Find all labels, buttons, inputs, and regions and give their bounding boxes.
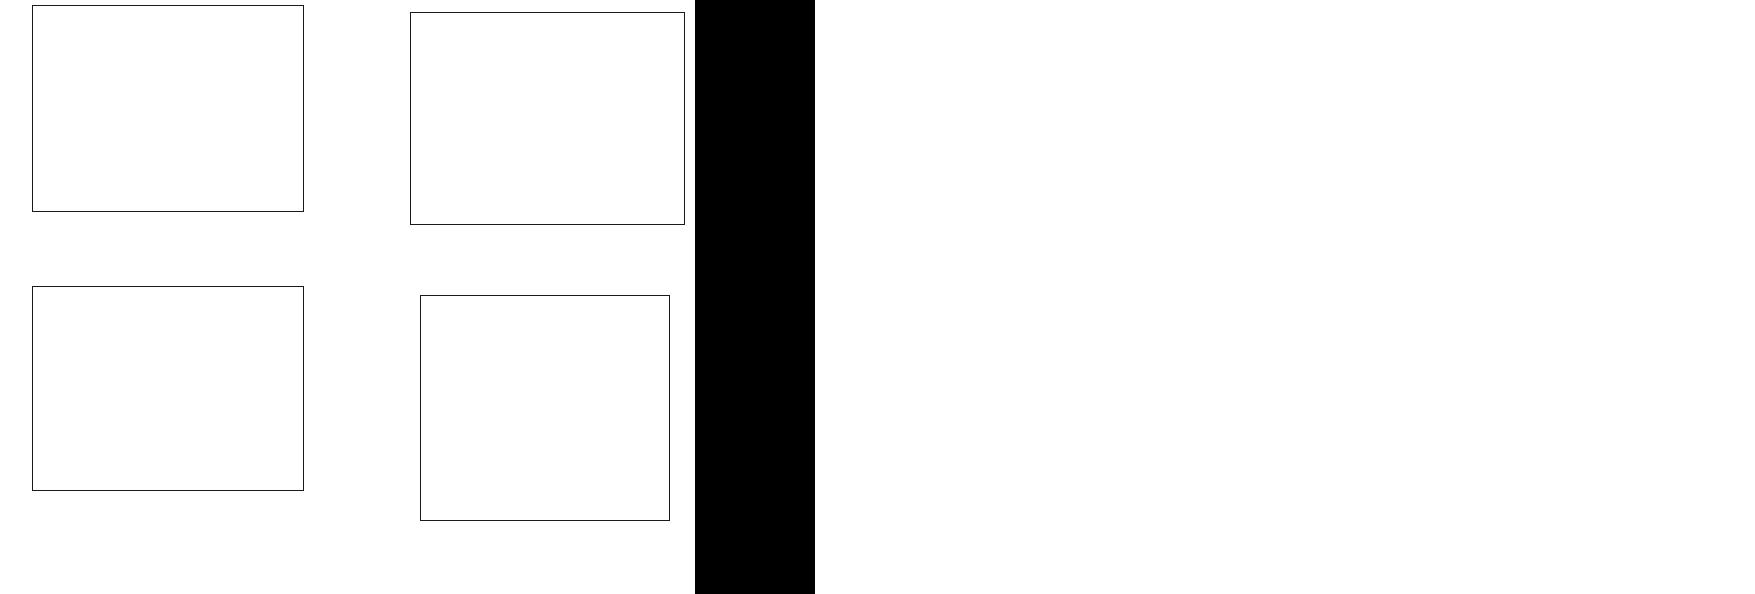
black-separator-band	[695, 0, 815, 594]
panel-a	[0, 0, 340, 255]
panel-c-plot	[32, 286, 304, 491]
panel-b-plot	[410, 12, 685, 225]
panel-c	[0, 268, 340, 528]
nmr-traces	[815, 0, 1755, 594]
panel-d-plot	[420, 295, 670, 521]
panel-c-curves	[33, 287, 305, 492]
panel-d-curves	[421, 296, 671, 522]
panel-d	[360, 275, 700, 565]
nmr-stacked-spectra	[815, 0, 1755, 594]
panel-a-plot	[32, 5, 304, 212]
panel-b	[360, 0, 700, 268]
panel-a-curves	[33, 6, 305, 213]
panel-b-curves	[411, 13, 686, 226]
